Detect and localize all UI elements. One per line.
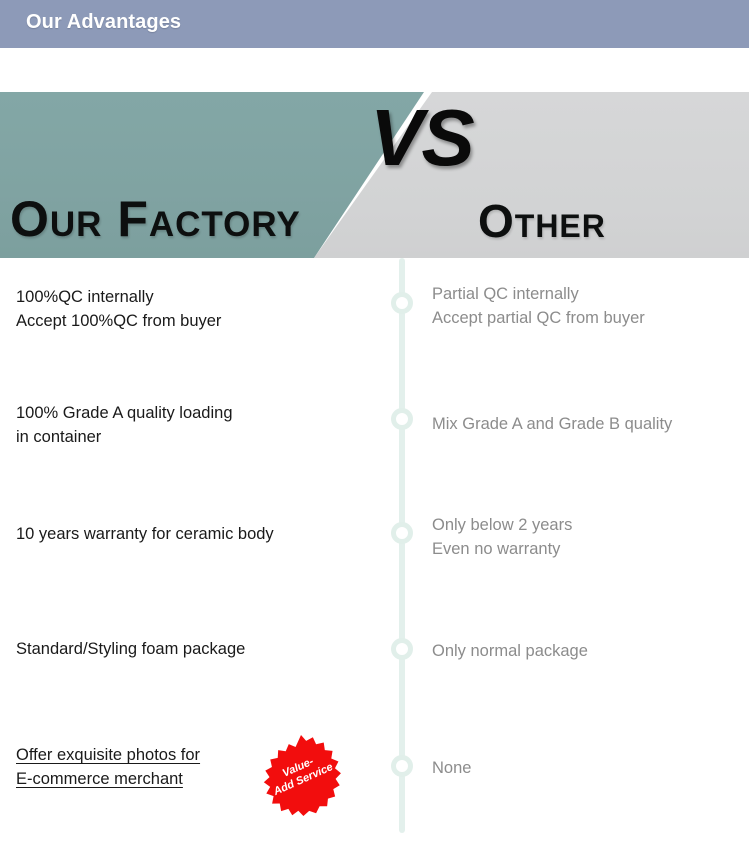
timeline-marker-icon [391, 408, 413, 430]
page-title: Our Advantages [26, 11, 181, 34]
comparison-row: 10 years warranty for ceramic body Only … [0, 492, 749, 607]
other-cell-line: None [432, 757, 744, 781]
page-banner: Our Advantages [0, 0, 749, 48]
timeline-marker-icon [391, 638, 413, 660]
factory-cell-line: 100% Grade A quality loading [16, 402, 376, 426]
starburst-icon [255, 735, 347, 827]
other-heading: Other [478, 194, 606, 248]
value-add-badge: Value- Add Service [255, 735, 347, 827]
factory-cell: 100% Grade A quality loading in containe… [16, 402, 376, 450]
versus-header: Our Factory Other VS [0, 48, 749, 262]
comparison-row: Standard/Styling foam package Only norma… [0, 607, 749, 722]
factory-cell: 10 years warranty for ceramic body [16, 523, 376, 547]
factory-cell-line: Standard/Styling foam package [16, 638, 376, 662]
comparison-row: 100%QC internally Accept 100%QC from buy… [0, 262, 749, 377]
other-cell: None [432, 757, 744, 781]
factory-cell-line: in container [16, 426, 376, 450]
other-cell-line: Partial QC internally [432, 283, 744, 307]
factory-cell-line: 10 years warranty for ceramic body [16, 523, 376, 547]
timeline-marker-icon [391, 522, 413, 544]
other-cell-line: Only normal package [432, 640, 744, 664]
advantages-comparison-page: Our Advantages Our Factory Other VS 100%… [0, 0, 749, 847]
other-cell: Partial QC internally Accept partial QC … [432, 283, 744, 331]
comparison-row: 100% Grade A quality loading in containe… [0, 377, 749, 492]
other-cell-line: Mix Grade A and Grade B quality [432, 413, 744, 437]
versus-mark: VS [370, 98, 473, 178]
factory-cell: 100%QC internally Accept 100%QC from buy… [16, 286, 376, 334]
timeline-marker-icon [391, 755, 413, 777]
factory-heading: Our Factory [10, 190, 301, 248]
comparison-row: Offer exquisite photos for E-commerce me… [0, 722, 749, 842]
comparison-rows: 100%QC internally Accept 100%QC from buy… [0, 262, 749, 842]
other-cell-line: Only below 2 years [432, 514, 744, 538]
other-cell: Mix Grade A and Grade B quality [432, 413, 744, 437]
factory-cell-line: Accept 100%QC from buyer [16, 310, 376, 334]
other-cell-line: Accept partial QC from buyer [432, 307, 744, 331]
factory-cell-line: 100%QC internally [16, 286, 376, 310]
other-cell: Only normal package [432, 640, 744, 664]
factory-cell: Standard/Styling foam package [16, 638, 376, 662]
timeline-marker-icon [391, 292, 413, 314]
other-cell: Only below 2 years Even no warranty [432, 514, 744, 562]
other-cell-line: Even no warranty [432, 538, 744, 562]
